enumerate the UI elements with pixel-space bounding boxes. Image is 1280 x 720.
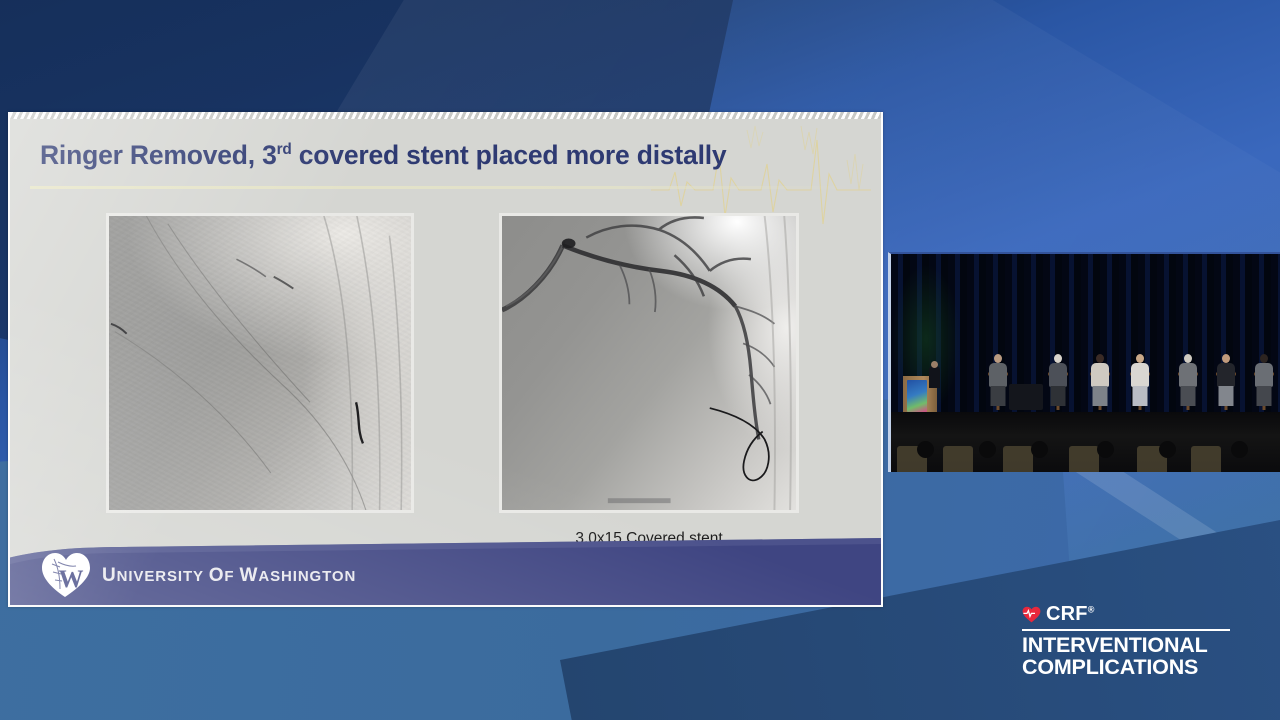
crf-heart-icon — [1022, 606, 1041, 623]
slide-title-superscript: rd — [277, 141, 292, 158]
slide-top-hatch-border — [10, 112, 881, 119]
panelist-head — [1136, 354, 1144, 363]
crf-event-line1: INTERVENTIONAL — [1022, 635, 1242, 657]
panelist-legs — [1181, 386, 1196, 406]
panelist-head — [1260, 354, 1268, 363]
panelist — [1215, 354, 1237, 410]
uw-institution-name: UNIVERSITY OF WASHINGTON — [102, 565, 356, 587]
panelist-torso — [1049, 363, 1067, 387]
panelist-legs — [1219, 386, 1234, 406]
panelist — [1089, 354, 1111, 410]
angiogram-image-right[interactable] — [499, 213, 799, 513]
crf-brand-text: CRF® — [1046, 603, 1095, 626]
panelist-torso — [1179, 363, 1197, 387]
slide-title-part1: Ringer Removed, 3 — [40, 140, 277, 170]
audience-head — [1231, 441, 1248, 458]
panelist-head — [1096, 354, 1104, 363]
crf-registered-mark: ® — [1088, 604, 1095, 614]
slide-title: Ringer Removed, 3rd covered stent placed… — [40, 140, 726, 171]
title-underline-rule — [30, 186, 852, 189]
crf-brand-label: CRF — [1046, 603, 1088, 625]
podium-screen-graphic — [907, 380, 927, 412]
live-video-feed[interactable] — [888, 252, 1280, 472]
panelist-torso — [1255, 363, 1273, 387]
panelist-torso — [1217, 363, 1235, 387]
crf-divider-rule — [1022, 629, 1230, 631]
crf-event-line2: COMPLICATIONS — [1022, 657, 1242, 679]
angiogram-image-left[interactable] — [106, 213, 414, 513]
panelist-legs — [991, 386, 1006, 406]
audience-seat — [1003, 446, 1033, 472]
high-table — [1009, 384, 1043, 410]
audience-seat — [1069, 446, 1099, 472]
panelist — [1177, 354, 1199, 410]
panelist — [1047, 354, 1069, 410]
panelist — [987, 354, 1009, 410]
crf-event-logo: CRF® INTERVENTIONAL COMPLICATIONS — [1022, 603, 1242, 679]
audience-head — [979, 441, 996, 458]
uw-heart-logo-icon: W — [40, 551, 92, 599]
slide-title-part2: covered stent placed more distally — [292, 140, 727, 170]
panelist-head — [1184, 354, 1192, 363]
stage-scene — [891, 254, 1280, 472]
audience-seat — [1191, 446, 1221, 472]
panelist-head — [1222, 354, 1230, 363]
panelist-head — [1054, 354, 1062, 363]
audience-head — [1159, 441, 1176, 458]
podium-speaker-head — [931, 361, 938, 368]
coronary-tree-overlay — [502, 216, 796, 510]
panelist-legs — [1257, 386, 1272, 406]
panelist-legs — [1133, 386, 1148, 406]
audience-head — [917, 441, 934, 458]
panelist-torso — [989, 363, 1007, 387]
audience-area — [891, 412, 1280, 472]
audience-head — [1097, 441, 1114, 458]
panelist-legs — [1051, 386, 1066, 406]
svg-text:W: W — [59, 566, 84, 593]
podium-speaker — [929, 366, 940, 388]
presentation-slide[interactable]: Ringer Removed, 3rd covered stent placed… — [8, 112, 883, 607]
panelist — [1253, 354, 1275, 410]
crf-brand-row: CRF® — [1022, 603, 1242, 626]
panelist-head — [994, 354, 1002, 363]
panelist-torso — [1091, 363, 1109, 387]
panelist-legs — [1093, 386, 1108, 406]
panelist — [1129, 354, 1151, 410]
uw-institution-label: UNIVERSITY OF WASHINGTON — [102, 568, 356, 585]
fluoroscopy-anatomy-overlay — [109, 216, 411, 510]
audience-seat — [943, 446, 973, 472]
audience-head — [1031, 441, 1048, 458]
panelist-torso — [1131, 363, 1149, 387]
